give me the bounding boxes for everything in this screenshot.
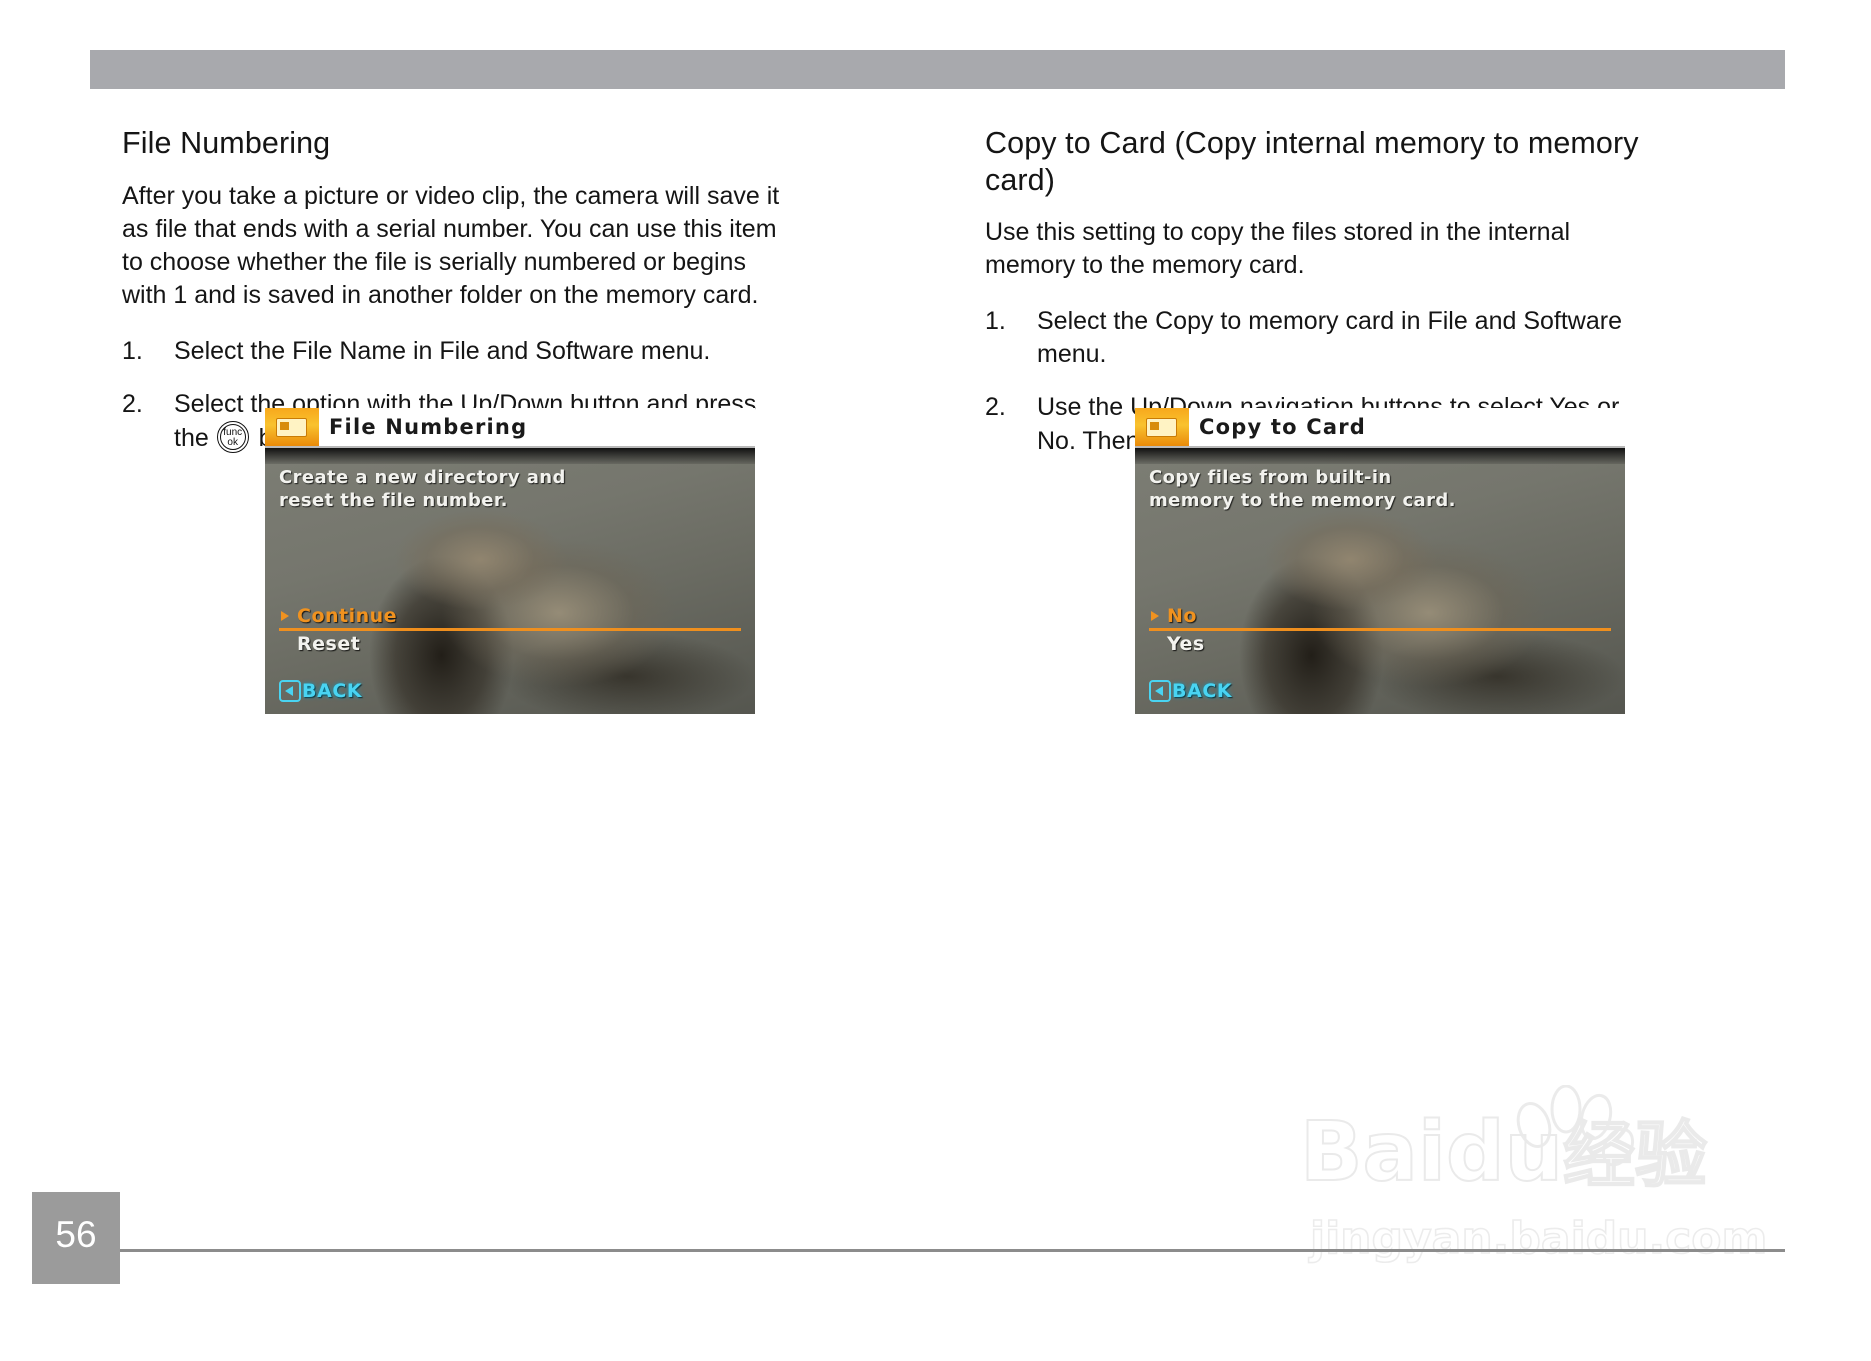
step-text: Select the File Name in File and Softwar…	[174, 337, 710, 365]
lcd-caption: Copy files from built-in memory to the m…	[1149, 466, 1456, 512]
baidu-paw-icon	[1488, 1085, 1638, 1215]
page-number-badge: 56	[32, 1192, 120, 1284]
section-title-copy-to-card: Copy to Card (Copy internal memory to me…	[985, 125, 1665, 198]
memory-card-icon	[265, 408, 319, 446]
selection-caret-icon	[281, 611, 289, 621]
left-intro-paragraph: After you take a picture or video clip, …	[122, 180, 787, 313]
footer-divider	[120, 1249, 1785, 1252]
watermark-brand-cn: 经验	[1563, 1113, 1707, 1197]
lcd-option-no[interactable]: No	[1149, 602, 1611, 630]
baidu-watermark: Baidu经验 jingyan.baidu.com	[1300, 1085, 1770, 1290]
lcd-back-button[interactable]: BACK	[279, 678, 362, 704]
lcd-photo-top-shade	[265, 448, 755, 464]
back-label: BACK	[1172, 680, 1232, 702]
step-text: Select the Copy to memory card in File a…	[1037, 307, 1622, 368]
back-arrow-icon	[279, 680, 301, 702]
lcd-body: Create a new directory and reset the fil…	[265, 448, 755, 714]
lcd-option-list: No Yes	[1149, 602, 1611, 658]
list-item: 1.Select the Copy to memory card in File…	[985, 305, 1665, 372]
lcd-option-reset[interactable]: Reset	[279, 630, 741, 658]
step-number: 1.	[985, 305, 1021, 338]
lcd-photo-top-shade	[1135, 448, 1625, 464]
right-intro-paragraph: Use this setting to copy the files store…	[985, 216, 1665, 283]
list-item: 1.Select the File Name in File and Softw…	[122, 335, 787, 368]
watermark-brand-text: Baidu	[1300, 1105, 1563, 1200]
lcd-option-label: No	[1167, 605, 1197, 627]
camera-screenshot-copy-to-card: Copy to Card Copy files from built-in me…	[1135, 408, 1625, 714]
camera-screenshot-file-numbering: File Numbering Create a new directory an…	[265, 408, 755, 714]
watermark-brand: Baidu经验	[1300, 1107, 1707, 1201]
lcd-option-list: Continue Reset	[279, 602, 741, 658]
lcd-header: File Numbering	[265, 408, 755, 448]
lcd-body: Copy files from built-in memory to the m…	[1135, 448, 1625, 714]
selection-caret-icon	[1151, 611, 1159, 621]
lcd-back-button[interactable]: BACK	[1149, 678, 1232, 704]
watermark-url: jingyan.baidu.com	[1310, 1213, 1767, 1265]
lcd-option-yes[interactable]: Yes	[1149, 630, 1611, 658]
step-number: 2.	[122, 388, 158, 421]
ok-label: ok	[217, 438, 249, 448]
memory-card-icon	[1135, 408, 1189, 446]
back-arrow-icon	[1149, 680, 1171, 702]
step-number: 1.	[122, 335, 158, 368]
lcd-title: Copy to Card	[1199, 415, 1366, 439]
func-ok-button-icon: func ok	[217, 421, 251, 455]
page-title: File Numbering	[122, 125, 787, 162]
lcd-title: File Numbering	[329, 415, 527, 439]
lcd-option-label: Continue	[297, 605, 397, 627]
back-label: BACK	[302, 680, 362, 702]
lcd-option-continue[interactable]: Continue	[279, 602, 741, 630]
step-number: 2.	[985, 391, 1021, 424]
lcd-option-label: Reset	[297, 633, 360, 655]
lcd-option-label: Yes	[1167, 633, 1205, 655]
page-number: 56	[32, 1214, 120, 1256]
page-header-bar	[90, 50, 1785, 89]
lcd-header: Copy to Card	[1135, 408, 1625, 448]
lcd-caption: Create a new directory and reset the fil…	[279, 466, 566, 512]
